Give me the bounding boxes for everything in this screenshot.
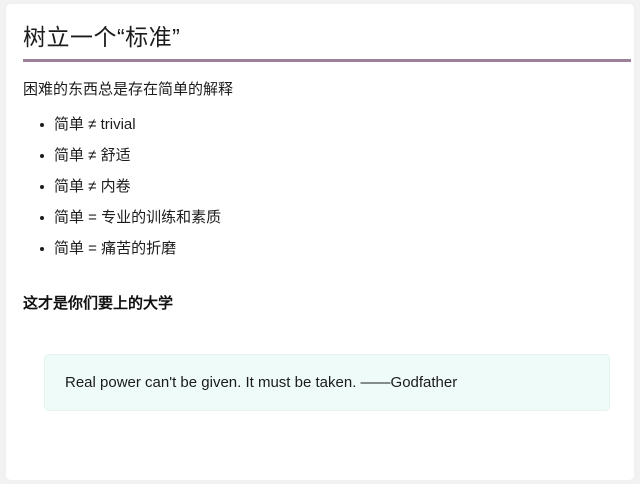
lead-paragraph: 困难的东西总是存在简单的解释 [23, 79, 233, 101]
bullet-dot-icon [40, 216, 44, 220]
list-item-label: 简单 ≠ 内卷 [54, 178, 131, 195]
list-item-label: 简单 = 专业的训练和素质 [54, 209, 221, 226]
emphasis-line: 这才是你们要上的大学 [23, 293, 173, 315]
bullet-dot-icon [40, 154, 44, 158]
list-item-label: 简单 ≠ 舒适 [54, 147, 131, 164]
page-title: 树立一个“标准” [23, 20, 180, 54]
bullet-dot-icon [40, 185, 44, 189]
list-item-label: 简单 = 痛苦的折磨 [54, 240, 176, 257]
quote-callout: Real power can't be given. It must be ta… [44, 354, 610, 411]
bullet-list: 简单 ≠ trivial 简单 ≠ 舒适 简单 ≠ 内卷 简单 = 专业的训练和… [23, 114, 603, 269]
list-item: 简单 = 专业的训练和素质 [23, 207, 603, 229]
list-item: 简单 ≠ trivial [23, 114, 603, 136]
title-divider [23, 59, 631, 62]
bullet-dot-icon [40, 123, 44, 127]
list-item: 简单 ≠ 内卷 [23, 176, 603, 198]
slide-card: 树立一个“标准” 困难的东西总是存在简单的解释 简单 ≠ trivial 简单 … [6, 4, 634, 480]
list-item: 简单 ≠ 舒适 [23, 145, 603, 167]
bullet-dot-icon [40, 247, 44, 251]
quote-text: Real power can't be given. It must be ta… [45, 372, 457, 394]
list-item-label: 简单 ≠ trivial [54, 116, 136, 133]
list-item: 简单 = 痛苦的折磨 [23, 238, 603, 260]
